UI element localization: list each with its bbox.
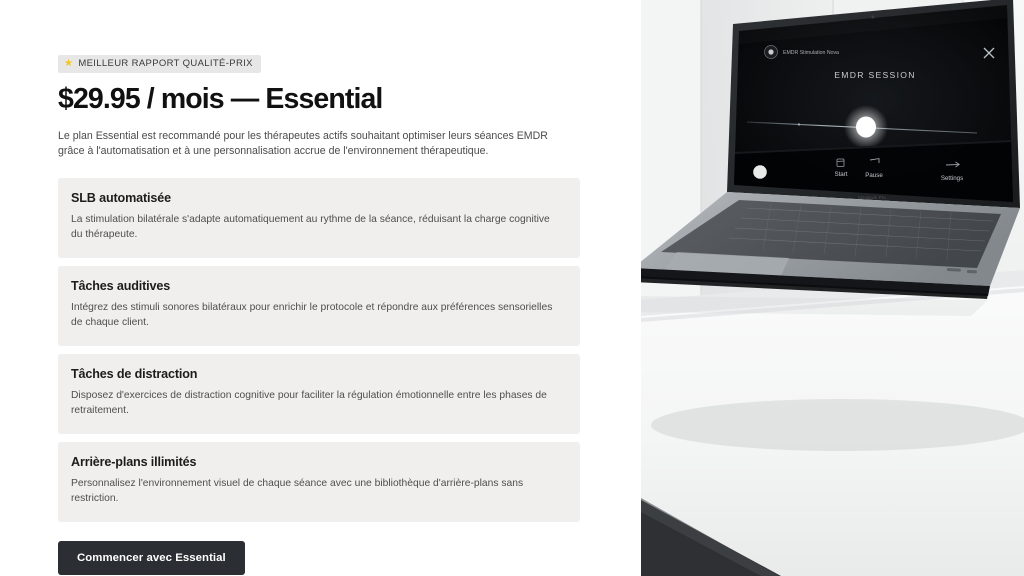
badge-label: MEILLEUR RAPPORT QUALITÉ-PRIX (78, 59, 253, 69)
pricing-page: ★ MEILLEUR RAPPORT QUALITÉ-PRIX $29.95 /… (0, 0, 1024, 576)
feature-description: Personnalisez l'environnement visuel de … (71, 477, 564, 507)
usb-port (947, 268, 961, 272)
feature-description: Disposez d'exercices de distraction cogn… (71, 389, 564, 419)
usb-port (967, 270, 977, 273)
session-title-label: EMDR SESSION (834, 70, 916, 80)
feature-description: Intégrez des stimuli sonores bilatéraux … (71, 301, 564, 331)
feature-card: Arrière-plans illimités Personnalisez l'… (58, 442, 580, 522)
feature-card: Tâches de distraction Disposez d'exercic… (58, 354, 580, 434)
feature-card: SLB automatisée La stimulation bilatéral… (58, 178, 580, 258)
feature-title: Tâches de distraction (71, 367, 564, 382)
start-with-essential-button[interactable]: Commencer avec Essential (58, 541, 245, 575)
star-icon: ★ (64, 59, 73, 69)
feature-title: SLB automatisée (71, 191, 564, 206)
plan-content-panel: ★ MEILLEUR RAPPORT QUALITÉ-PRIX $29.95 /… (0, 0, 641, 576)
start-label: Start (834, 171, 847, 178)
plan-description: Le plan Essential est recommandé pour le… (58, 129, 576, 159)
arrow-right-icon (946, 164, 959, 165)
settings-label: Settings (941, 175, 963, 182)
feature-title: Tâches auditives (71, 279, 564, 294)
active-indicator-dot (753, 165, 767, 179)
feature-list: SLB automatisée La stimulation bilatéral… (58, 178, 580, 522)
feature-title: Arrière-plans illimités (71, 455, 564, 470)
laptop-brand-label: MacBook Pro (858, 195, 886, 200)
pause-label: Pause (865, 172, 883, 179)
feature-description: La stimulation bilatérale s'adapte autom… (71, 213, 564, 243)
laptop-photo-illustration: EMDR Stimulation Nova EMDR SESSION (641, 0, 1024, 576)
page-title: $29.95 / mois — Essential (58, 83, 641, 116)
feature-card: Tâches auditives Intégrez des stimuli so… (58, 266, 580, 346)
stimulus-dot (856, 117, 876, 138)
laptop-photo: EMDR Stimulation Nova EMDR SESSION (641, 0, 1024, 576)
best-value-badge: ★ MEILLEUR RAPPORT QUALITÉ-PRIX (58, 55, 261, 73)
app-name-label: EMDR Stimulation Nova (783, 50, 839, 56)
